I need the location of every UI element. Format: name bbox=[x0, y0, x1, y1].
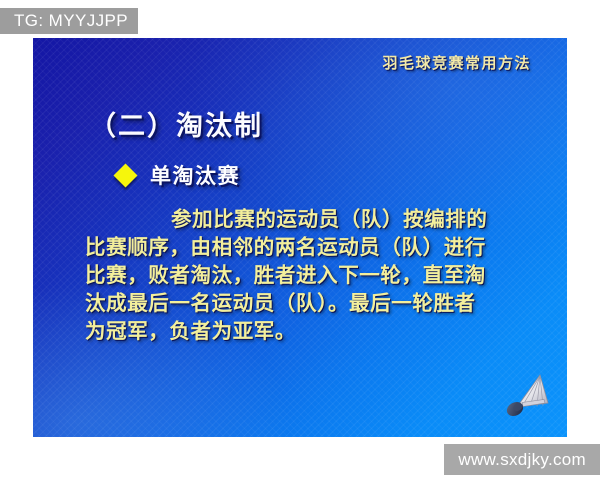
diamond-bullet-icon bbox=[113, 163, 137, 187]
telegram-watermark-banner: TG: MYYJJPP bbox=[0, 8, 138, 34]
body-line: 为冠军，负者为亚军。 bbox=[85, 318, 535, 346]
body-line: 汰成最后一名运动员（队）。最后一轮胜者 bbox=[85, 290, 535, 318]
shuttlecock-icon bbox=[499, 369, 553, 423]
body-line: 比赛顺序，由相邻的两名运动员（队）进行 bbox=[85, 234, 535, 262]
body-line: 参加比赛的运动员（队）按编排的 bbox=[85, 206, 535, 234]
slide-subtitle-row: 单淘汰赛 bbox=[117, 160, 240, 190]
slide-body-paragraph: 参加比赛的运动员（队）按编排的 比赛顺序，由相邻的两名运动员（队）进行 比赛，败… bbox=[85, 206, 535, 346]
slide-header-text: 羽毛球竞赛常用方法 bbox=[382, 52, 531, 73]
presentation-slide: 羽毛球竞赛常用方法 （二）淘汰制 单淘汰赛 参加比赛的运动员（队）按编排的 比赛… bbox=[33, 38, 567, 437]
site-watermark-banner: www.sxdjky.com bbox=[444, 444, 600, 475]
slide-subtitle: 单淘汰赛 bbox=[150, 160, 240, 190]
body-line: 比赛，败者淘汰，胜者进入下一轮，直至淘 bbox=[85, 262, 535, 290]
slide-title: （二）淘汰制 bbox=[89, 104, 263, 143]
